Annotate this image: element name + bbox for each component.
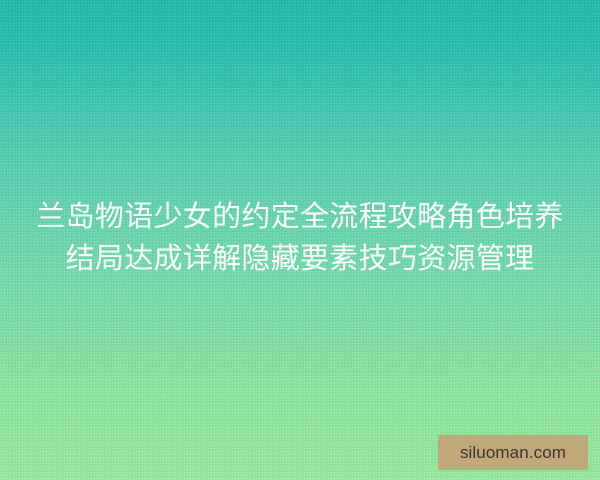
cover-title-line-1: 兰岛物语少女的约定全流程攻略角色培养 (18, 196, 582, 238)
watermark-site-url: siluoman.com (460, 444, 566, 461)
cover-title-line-2: 结局达成详解隐藏要素技巧资源管理 (18, 238, 582, 280)
watermark-badge: siluoman.com (438, 435, 588, 470)
article-cover-image: 兰岛物语少女的约定全流程攻略角色培养 结局达成详解隐藏要素技巧资源管理 silu… (0, 0, 600, 480)
cover-title: 兰岛物语少女的约定全流程攻略角色培养 结局达成详解隐藏要素技巧资源管理 (0, 196, 600, 280)
